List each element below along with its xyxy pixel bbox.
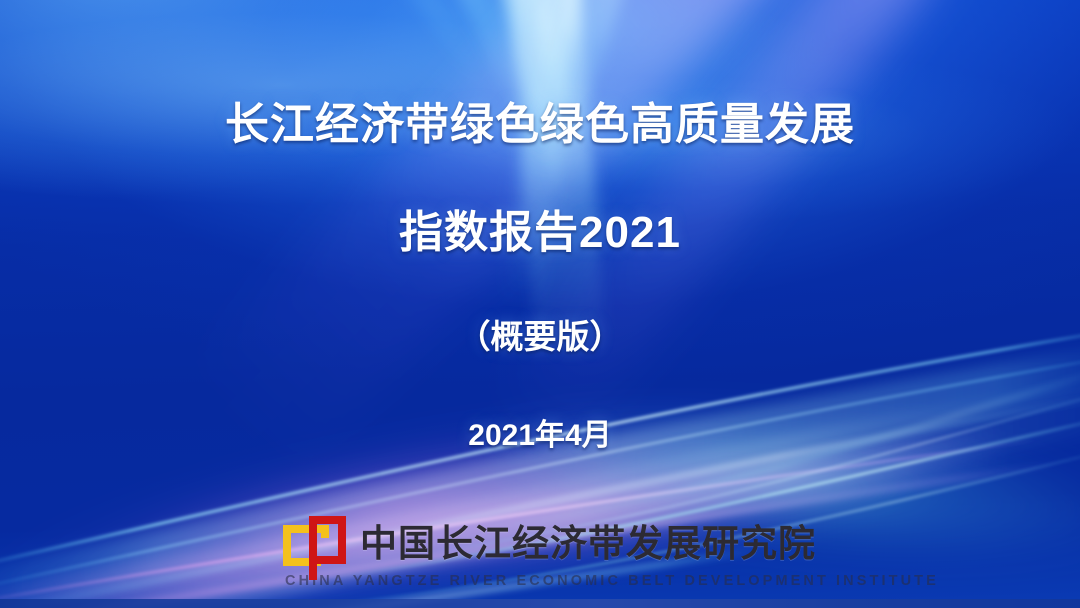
zhong-kou-logo-mark-icon <box>283 516 346 570</box>
organization-logo: 中国长江经济带发展研究院 CHINA YANGTZE RIVER ECONOMI… <box>283 516 939 589</box>
logo-red-square-icon <box>309 516 346 564</box>
organization-name-en: CHINA YANGTZE RIVER ECONOMIC BELT DEVELO… <box>285 574 939 589</box>
date-line: 2021年4月 <box>0 419 1080 452</box>
page-title-line-1: 长江经济带绿色绿色高质量发展 <box>0 101 1080 149</box>
logo-row: 中国长江经济带发展研究院 <box>283 516 939 570</box>
subtitle: （概要版） <box>0 319 1080 355</box>
slide-content: 长江经济带绿色绿色高质量发展 指数报告2021 （概要版） 2021年4月 中国… <box>0 0 1080 608</box>
page-title-line-2: 指数报告2021 <box>0 209 1080 257</box>
cover-slide: 长江经济带绿色绿色高质量发展 指数报告2021 （概要版） 2021年4月 中国… <box>0 0 1080 608</box>
organization-name-cn: 中国长江经济带发展研究院 <box>360 525 816 562</box>
